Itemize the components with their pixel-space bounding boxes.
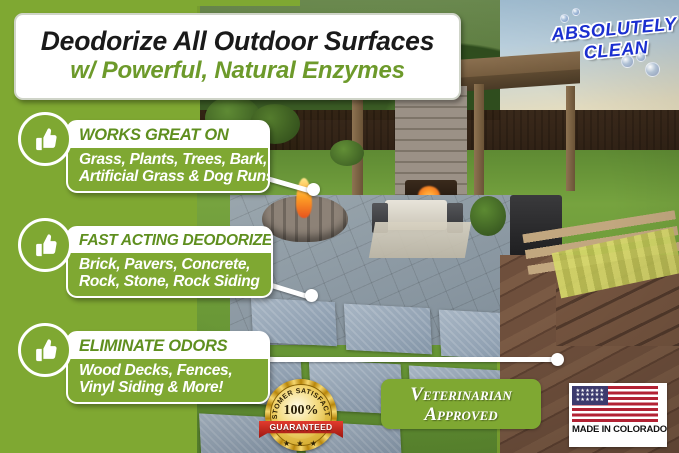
feature-box: ELIMINATE ODORS Wood Decks, Fences, Viny…: [66, 331, 270, 404]
feature-body: Brick, Pavers, Concrete, Rock, Stone, Ro…: [68, 253, 271, 296]
patio-rug: [369, 222, 471, 258]
leader-dot-1: [307, 183, 320, 196]
bubble-icon-3: [645, 62, 660, 77]
thumbs-up-icon: [18, 218, 72, 272]
leader-dot-3: [551, 353, 564, 366]
seal-stars: ★ ★ ★: [265, 439, 337, 448]
feature-box: FAST ACTING DEODORIZER Brick, Pavers, Co…: [66, 226, 273, 298]
made-in-colorado-badge: ★★★★★★★★★★★★★★★★★★ MADE IN COLORADO: [569, 383, 667, 447]
feature-title: ELIMINATE ODORS: [68, 333, 268, 359]
feature-body-line-2: Artificial Grass & Dog Runs: [79, 168, 260, 185]
feature-body-line-2: Vinyl Siding & More!: [79, 379, 260, 396]
bubble-icon-5: [572, 8, 580, 16]
us-flag-icon: ★★★★★★★★★★★★★★★★★★: [572, 386, 658, 422]
pergola-post-right: [566, 86, 575, 191]
brand-line-1: ABSOLUTELY: [551, 14, 678, 43]
vet-line-1: Veterinarian: [410, 385, 512, 404]
headline-banner: Deodorize All Outdoor Surfaces w/ Powerf…: [14, 13, 461, 100]
bubble-icon-4: [560, 14, 569, 23]
bush-small: [330, 140, 364, 166]
seal-ribbon-text: GUARANTEED: [270, 422, 333, 432]
feature-body: Wood Decks, Fences, Vinyl Siding & More!: [68, 359, 268, 402]
feature-body-line-2: Rock, Stone, Rock Siding: [79, 273, 263, 290]
seal-percent: 100%: [265, 403, 337, 419]
headline-primary: Deodorize All Outdoor Surfaces: [41, 28, 435, 56]
product-marketing-banner: Deodorize All Outdoor Surfaces w/ Powerf…: [0, 0, 679, 453]
feature-title: FAST ACTING DEODORIZER: [68, 228, 271, 253]
feature-body-line-1: Wood Decks, Fences,: [79, 362, 260, 379]
green-top-strip: [0, 0, 300, 6]
flag-canton: ★★★★★★★★★★★★★★★★★★: [572, 386, 608, 405]
vet-line-2: Approved: [424, 405, 497, 424]
feature-title: WORKS GREAT ON: [68, 122, 268, 148]
feature-body-line-1: Grass, Plants, Trees, Bark,: [79, 151, 260, 168]
bubble-icon-2: [636, 52, 646, 62]
satisfaction-guarantee-seal: CUSTOMER SATISFACTION 100% GUARANTEED ★ …: [265, 379, 337, 451]
pergola-post-mid: [474, 84, 484, 204]
bubble-icon-1: [621, 55, 634, 68]
leader-line-3: [239, 357, 559, 362]
made-in-text: MADE IN COLORADO: [572, 424, 664, 435]
paver-slab-2: [344, 304, 432, 355]
thumbs-up-icon: [18, 323, 72, 377]
thumbs-up-icon: [18, 112, 72, 166]
veterinarian-approved-badge: Veterinarian Approved: [381, 379, 541, 429]
leader-dot-2: [305, 289, 318, 302]
feature-body-line-1: Brick, Pavers, Concrete,: [79, 256, 263, 273]
feature-body: Grass, Plants, Trees, Bark, Artificial G…: [68, 148, 268, 191]
headline-secondary: w/ Powerful, Natural Enzymes: [70, 58, 405, 84]
feature-box: WORKS GREAT ON Grass, Plants, Trees, Bar…: [66, 120, 270, 193]
planter-shrub: [470, 196, 506, 236]
